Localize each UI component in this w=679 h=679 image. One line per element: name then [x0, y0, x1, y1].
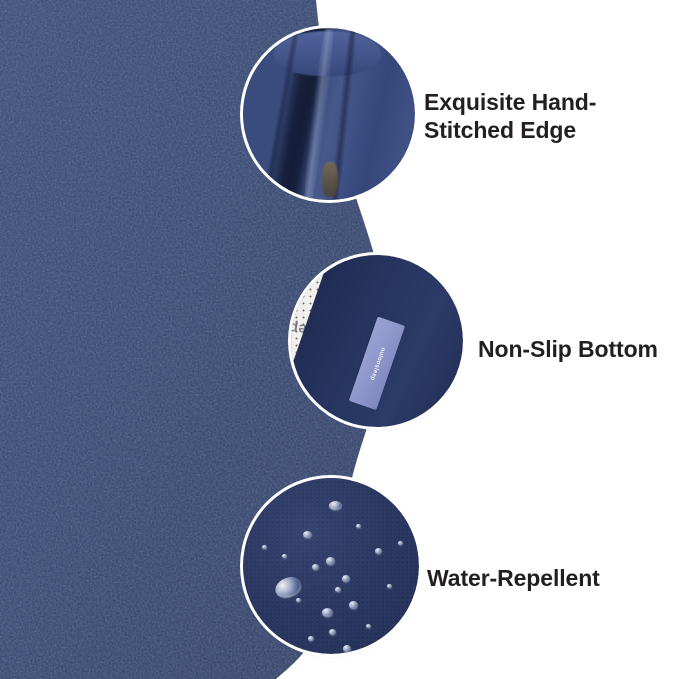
water-droplet: [329, 501, 342, 510]
feature-label-non-slip-bottom: Non-Slip Bottom: [478, 335, 678, 363]
water-droplet: [296, 598, 301, 602]
water-droplet: [326, 557, 335, 565]
non-slip-backing-photo: nuloosleep nuloosleep nuloosleep: [291, 255, 463, 427]
brand-tag-text: nuloosleep: [369, 346, 386, 381]
feature-photo-non-slip-bottom: nuloosleep nuloosleep nuloosleep: [291, 255, 463, 427]
water-droplet: [387, 584, 392, 588]
water-droplet-fabric-photo: [243, 478, 419, 654]
water-droplet: [282, 554, 287, 558]
water-droplet: [303, 531, 312, 538]
water-droplet: [312, 564, 319, 570]
feature-label-stitched-edge: Exquisite Hand- Stitched Edge: [424, 88, 664, 144]
water-droplet: [356, 524, 361, 528]
product-feature-infographic: Exquisite Hand- Stitched Edge nuloosleep…: [0, 0, 679, 679]
feature-photo-stitched-edge: [243, 28, 415, 200]
water-droplet: [342, 575, 350, 582]
feature-label-water-repellent: Water-Repellent: [427, 564, 647, 592]
stitched-edge-fabric-photo: [243, 28, 415, 200]
stitch-thread-detail: [322, 162, 337, 196]
water-droplet: [349, 601, 358, 609]
water-droplet: [335, 587, 341, 592]
feature-photo-water-repellent: [243, 478, 419, 654]
